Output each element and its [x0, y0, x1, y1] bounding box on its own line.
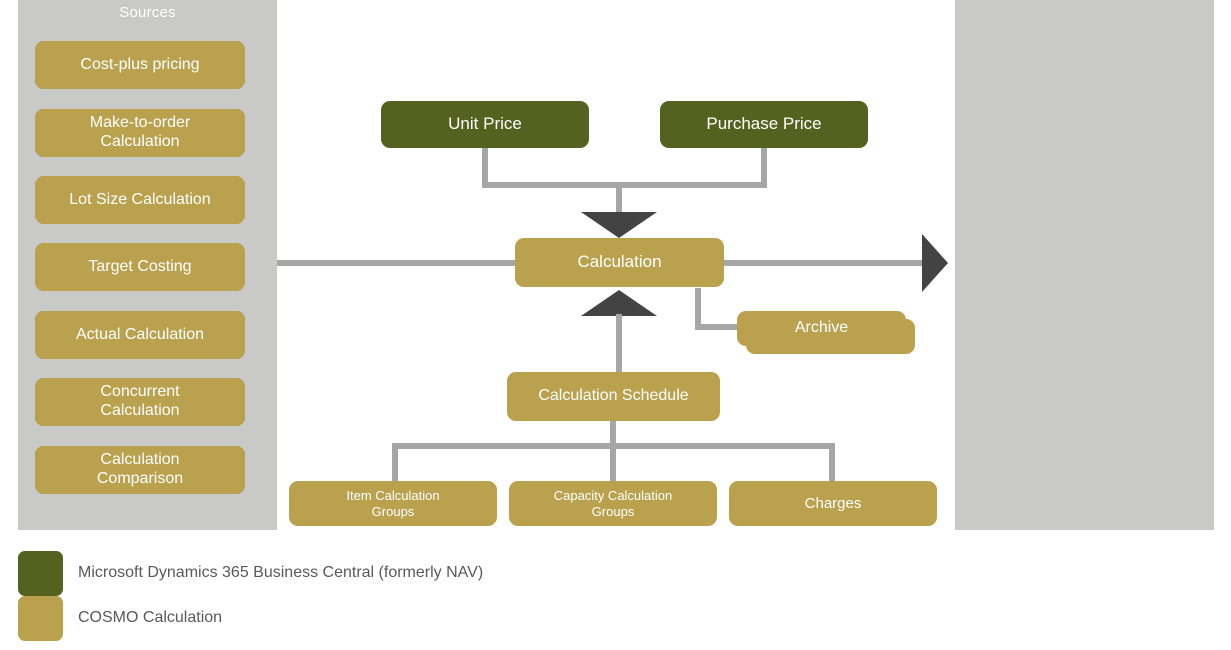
- node-item-calculation-groups[interactable]: Item Calculation Groups: [289, 481, 497, 526]
- node-make-to-order-calculation-label-line2: Calculation: [100, 133, 179, 152]
- connector-schedule-to-calculation: [616, 314, 622, 376]
- node-cost-plus-pricing[interactable]: Cost-plus pricing: [35, 41, 245, 89]
- node-actual-calculation[interactable]: Actual Calculation: [35, 311, 245, 359]
- outputs-panel: [955, 0, 1214, 530]
- connector-purchase-price-down: [761, 148, 767, 184]
- arrow-down-to-calculation: [581, 212, 657, 238]
- connector-rail-to-item-groups: [392, 443, 398, 483]
- node-purchase-price-label: Purchase Price: [706, 114, 821, 134]
- legend-label-cosmo-calculation: COSMO Calculation: [78, 609, 222, 627]
- node-unit-price[interactable]: Unit Price: [381, 101, 589, 148]
- node-calculation-schedule-label: Calculation Schedule: [538, 387, 688, 406]
- connector-calculation-to-archive-vertical: [695, 288, 701, 324]
- node-actual-calculation-label: Actual Calculation: [76, 326, 204, 345]
- node-lot-size-calculation[interactable]: Lot Size Calculation: [35, 176, 245, 224]
- node-archive-label: Archive: [795, 319, 848, 338]
- arrow-up-to-calculation: [581, 290, 657, 316]
- connector-rail-to-capacity-groups: [610, 443, 616, 483]
- node-item-calculation-groups-label-line1: Item Calculation: [346, 488, 439, 503]
- node-purchase-price[interactable]: Purchase Price: [660, 101, 868, 148]
- node-calculation-label: Calculation: [577, 252, 661, 272]
- node-capacity-calculation-groups-label-line2: Groups: [592, 504, 635, 519]
- node-concurrent-calculation[interactable]: Concurrent Calculation: [35, 378, 245, 426]
- node-calculation-comparison-label-line2: Comparison: [97, 470, 183, 489]
- node-calculation-comparison[interactable]: Calculation Comparison: [35, 446, 245, 494]
- node-calculation-comparison-label-line1: Calculation: [100, 451, 179, 470]
- node-charges[interactable]: Charges: [729, 481, 937, 526]
- node-capacity-calculation-groups-label-line1: Capacity Calculation: [554, 488, 673, 503]
- legend-label-business-central: Microsoft Dynamics 365 Business Central …: [78, 564, 483, 582]
- connector-rail-to-charges: [829, 443, 835, 483]
- legend-swatch-cosmo-calculation: [18, 596, 63, 641]
- node-unit-price-label: Unit Price: [448, 114, 522, 134]
- node-capacity-calculation-groups[interactable]: Capacity Calculation Groups: [509, 481, 717, 526]
- legend-swatch-business-central: [18, 551, 63, 596]
- node-make-to-order-calculation[interactable]: Make-to-order Calculation: [35, 109, 245, 157]
- diagram-canvas: Sources Item BOMs / Routing Production S…: [0, 0, 1231, 650]
- node-concurrent-calculation-label-line2: Calculation: [100, 402, 179, 421]
- node-archive[interactable]: Archive: [737, 311, 906, 346]
- connector-sources-to-calculation: [277, 260, 522, 266]
- connector-calculation-to-outputs: [720, 260, 924, 266]
- node-calculation[interactable]: Calculation: [515, 238, 724, 287]
- node-target-costing-label: Target Costing: [88, 258, 191, 277]
- node-calculation-schedule[interactable]: Calculation Schedule: [507, 372, 720, 421]
- node-charges-label: Charges: [805, 495, 862, 513]
- node-make-to-order-calculation-label-line1: Make-to-order: [90, 114, 190, 133]
- node-concurrent-calculation-label-line1: Concurrent: [100, 383, 179, 402]
- node-lot-size-calculation-label: Lot Size Calculation: [69, 191, 210, 210]
- connector-unit-price-down: [482, 148, 488, 184]
- connector-prices-rail: [482, 182, 767, 188]
- node-target-costing[interactable]: Target Costing: [35, 243, 245, 291]
- sources-panel-title: Sources: [18, 4, 277, 21]
- node-item-calculation-groups-label-line2: Groups: [372, 504, 415, 519]
- node-cost-plus-pricing-label: Cost-plus pricing: [80, 56, 199, 75]
- arrow-right-to-outputs: [922, 234, 948, 292]
